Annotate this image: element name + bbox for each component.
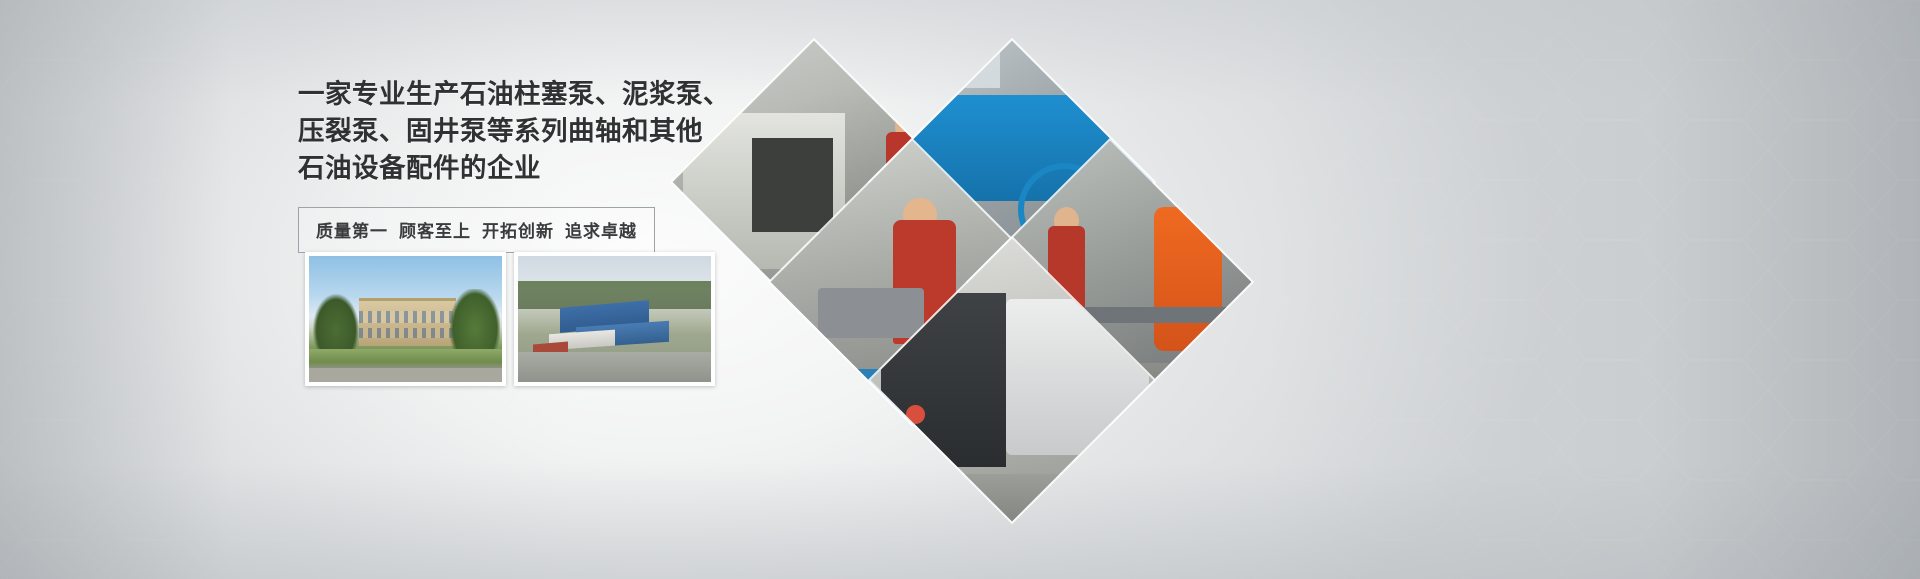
banner-headline: 一家专业生产石油柱塞泵、泥浆泵、 压裂泵、固井泵等系列曲轴和其他 石油设备配件的…	[298, 76, 718, 187]
diamond-photo-collage	[690, 34, 1290, 414]
banner-text-block: 一家专业生产石油柱塞泵、泥浆泵、 压裂泵、固井泵等系列曲轴和其他 石油设备配件的…	[298, 76, 718, 253]
slogan-item-3: 开拓创新	[482, 222, 554, 241]
slogan-text: 质量第一顾客至上开拓创新追求卓越	[316, 217, 637, 242]
thumbnail-row	[305, 252, 715, 386]
headline-line-1: 一家专业生产石油柱塞泵、泥浆泵、	[298, 76, 718, 113]
headline-line-2: 压裂泵、固井泵等系列曲轴和其他	[298, 113, 718, 150]
office-building-photo	[305, 252, 506, 386]
slogan-box: 质量第一顾客至上开拓创新追求卓越	[298, 207, 655, 253]
slogan-item-4: 追求卓越	[565, 222, 637, 241]
hero-banner: 一家专业生产石油柱塞泵、泥浆泵、 压裂泵、固井泵等系列曲轴和其他 石油设备配件的…	[0, 0, 1920, 579]
slogan-item-2: 顾客至上	[399, 222, 471, 241]
headline-line-3: 石油设备配件的企业	[298, 150, 718, 187]
factory-aerial-photo	[514, 252, 715, 386]
slogan-item-1: 质量第一	[316, 222, 388, 241]
